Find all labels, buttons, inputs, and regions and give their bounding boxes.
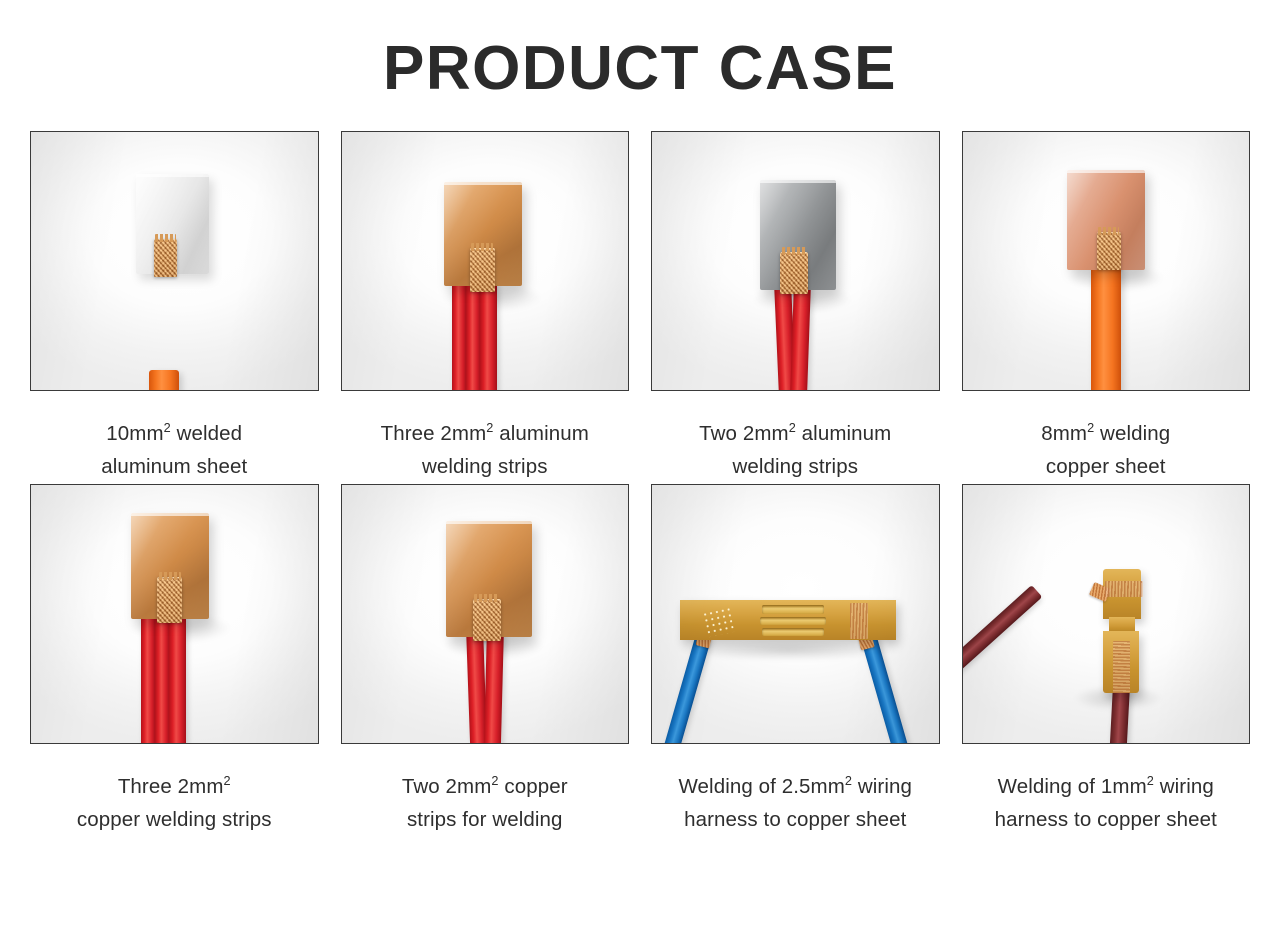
caption-line-2: harness to copper sheet bbox=[962, 803, 1251, 836]
caption-line-2: aluminum sheet bbox=[30, 450, 319, 483]
product-photo-2[interactable] bbox=[341, 131, 630, 391]
product-photo-1[interactable] bbox=[30, 131, 319, 391]
product-photo-7[interactable] bbox=[651, 484, 940, 744]
product-photo-5[interactable] bbox=[30, 484, 319, 744]
product-card-7[interactable]: Welding of 2.5mm2 wiring harness to copp… bbox=[651, 484, 940, 836]
product-photo-6[interactable] bbox=[341, 484, 630, 744]
caption-line-1: Three 2mm2 aluminum bbox=[341, 417, 630, 450]
product-grid: 10mm2 welded aluminum sheet bbox=[0, 131, 1280, 836]
caption-line-2: copper sheet bbox=[962, 450, 1251, 483]
product-photo-3[interactable] bbox=[651, 131, 940, 391]
product-photo-8[interactable] bbox=[962, 484, 1251, 744]
caption-line-2: harness to copper sheet bbox=[651, 803, 940, 836]
caption-line-2: copper welding strips bbox=[30, 803, 319, 836]
product-caption-5: Three 2mm2 copper welding strips bbox=[30, 744, 319, 836]
caption-line-1: Welding of 2.5mm2 wiring bbox=[651, 770, 940, 803]
caption-line-2: welding strips bbox=[341, 450, 630, 483]
product-caption-6: Two 2mm2 copper strips for welding bbox=[341, 744, 630, 836]
photo-lighting bbox=[31, 132, 318, 390]
product-card-3[interactable]: Two 2mm2 aluminum welding strips bbox=[651, 131, 940, 483]
product-card-6[interactable]: Two 2mm2 copper strips for welding bbox=[341, 484, 630, 836]
caption-line-1: 8mm2 welding bbox=[962, 417, 1251, 450]
product-caption-2: Three 2mm2 aluminum welding strips bbox=[341, 391, 630, 483]
caption-line-2: strips for welding bbox=[341, 803, 630, 836]
product-card-1[interactable]: 10mm2 welded aluminum sheet bbox=[30, 131, 319, 483]
product-card-8[interactable]: Welding of 1mm2 wiring harness to copper… bbox=[962, 484, 1251, 836]
caption-line-1: Welding of 1mm2 wiring bbox=[962, 770, 1251, 803]
caption-line-2: welding strips bbox=[651, 450, 940, 483]
product-caption-7: Welding of 2.5mm2 wiring harness to copp… bbox=[651, 744, 940, 836]
page-title: PRODUCT CASE bbox=[0, 0, 1280, 101]
caption-line-1: Two 2mm2 copper bbox=[341, 770, 630, 803]
photo-lighting bbox=[342, 132, 629, 390]
photo-lighting bbox=[963, 132, 1250, 390]
product-case-page: PRODUCT CASE 10mm2 welded aluminum sheet bbox=[0, 0, 1280, 930]
photo-lighting bbox=[963, 485, 1250, 743]
product-caption-8: Welding of 1mm2 wiring harness to copper… bbox=[962, 744, 1251, 836]
photo-lighting bbox=[31, 485, 318, 743]
photo-lighting bbox=[652, 132, 939, 390]
product-card-4[interactable]: 8mm2 welding copper sheet bbox=[962, 131, 1251, 483]
product-card-5[interactable]: Three 2mm2 copper welding strips bbox=[30, 484, 319, 836]
product-caption-4: 8mm2 welding copper sheet bbox=[962, 391, 1251, 483]
product-photo-4[interactable] bbox=[962, 131, 1251, 391]
photo-lighting bbox=[652, 485, 939, 743]
caption-line-1: Two 2mm2 aluminum bbox=[651, 417, 940, 450]
product-card-2[interactable]: Three 2mm2 aluminum welding strips bbox=[341, 131, 630, 483]
photo-lighting bbox=[342, 485, 629, 743]
product-caption-1: 10mm2 welded aluminum sheet bbox=[30, 391, 319, 483]
product-caption-3: Two 2mm2 aluminum welding strips bbox=[651, 391, 940, 483]
caption-line-1: 10mm2 welded bbox=[30, 417, 319, 450]
caption-line-1: Three 2mm2 bbox=[30, 770, 319, 803]
